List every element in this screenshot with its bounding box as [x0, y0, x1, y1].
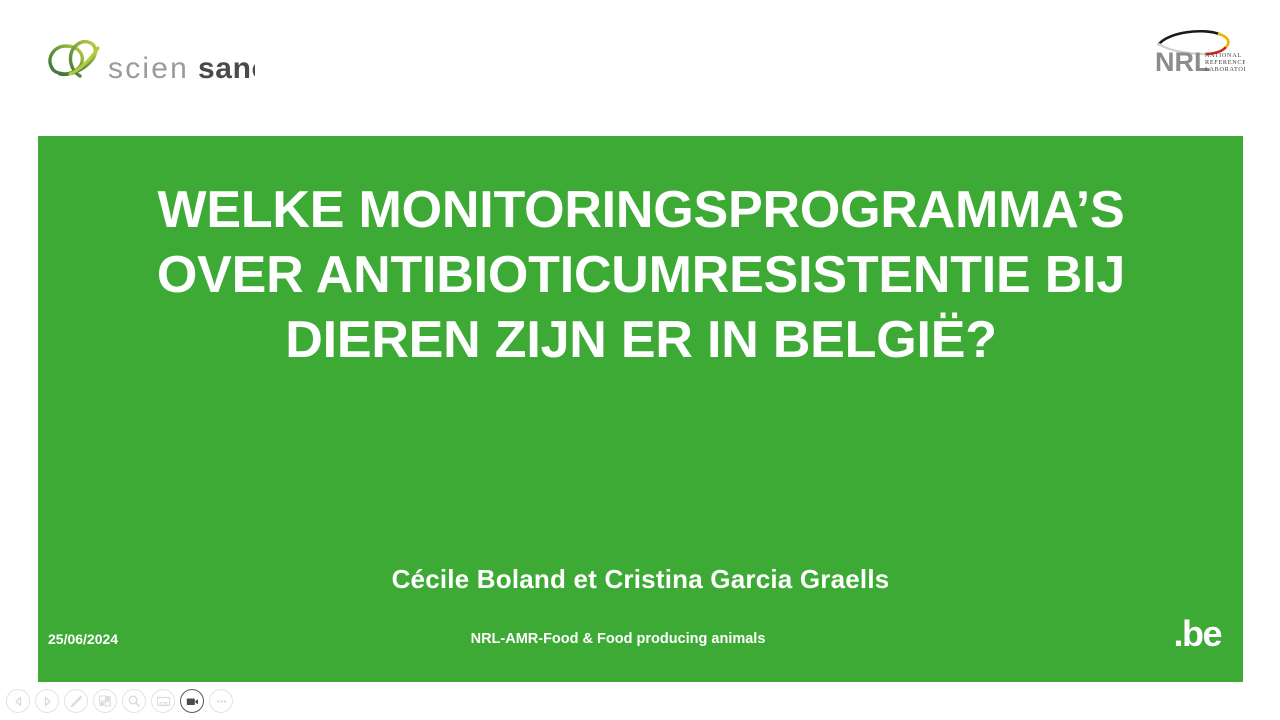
sciensano-wordmark-light: scien	[108, 52, 189, 85]
captions-icon	[156, 694, 171, 709]
nrl-subtitle-line1: NATIONAL	[1205, 52, 1242, 59]
grid-slides-icon	[98, 694, 112, 708]
slide-viewer: scien sano NRL NATIONAL REFERENCE LABORA…	[0, 0, 1280, 720]
more-options-button[interactable]	[209, 689, 233, 713]
captions-button[interactable]	[151, 689, 175, 713]
sciensano-wordmark-bold: sano	[198, 52, 255, 85]
ellipsis-icon	[214, 694, 229, 709]
pen-tool-button[interactable]	[64, 689, 88, 713]
slide-content-panel: WELKE MONITORINGSPROGRAMMA’S OVER ANTIBI…	[38, 136, 1243, 682]
camera-button[interactable]	[180, 689, 204, 713]
pen-icon	[69, 694, 84, 709]
video-camera-icon	[185, 694, 200, 709]
zoom-button[interactable]	[122, 689, 146, 713]
triangle-right-icon	[41, 695, 54, 708]
slide-title: WELKE MONITORINGSPROGRAMMA’S OVER ANTIBI…	[96, 178, 1186, 373]
nrl-subtitle-line2: REFERENCE	[1205, 59, 1245, 66]
triangle-left-icon	[12, 695, 25, 708]
sciensano-logo: scien sano	[40, 34, 255, 90]
slide-overview-button[interactable]	[93, 689, 117, 713]
belgium-be-logo: .be	[1173, 614, 1221, 654]
presentation-control-bar	[0, 682, 1280, 720]
slide-header-band: scien sano NRL NATIONAL REFERENCE LABORA…	[0, 0, 1280, 136]
next-slide-button[interactable]	[35, 689, 59, 713]
slide-authors: Cécile Boland et Cristina Garcia Graells	[38, 564, 1243, 595]
slide-footer-subtitle: NRL-AMR-Food & Food producing animals	[38, 631, 1198, 647]
nrl-logo: NRL NATIONAL REFERENCE LABORATORIES	[1153, 27, 1245, 75]
nrl-subtitle-line3: LABORATORIES	[1205, 66, 1245, 73]
nrl-acronym: NRL	[1155, 47, 1211, 75]
magnifier-icon	[127, 694, 141, 708]
previous-slide-button[interactable]	[6, 689, 30, 713]
sciensano-leaf-mark	[50, 42, 98, 76]
